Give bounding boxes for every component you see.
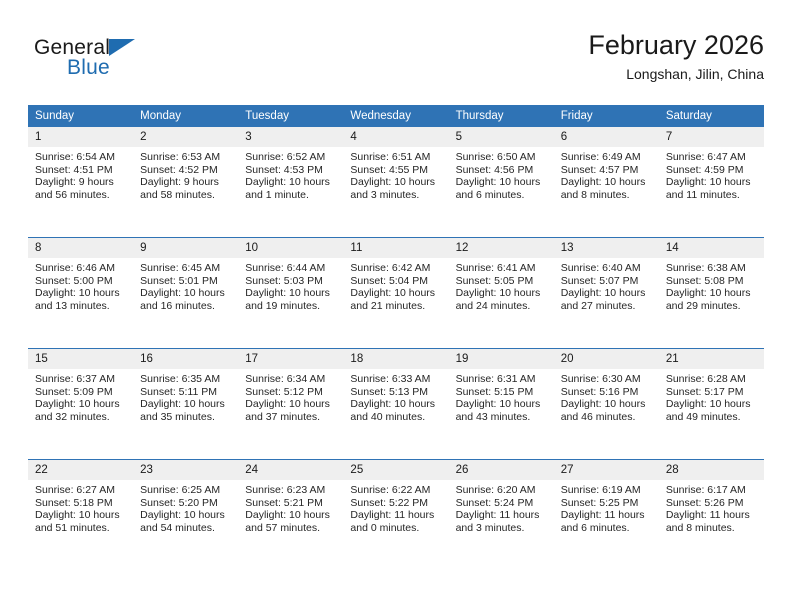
day-details: Sunrise: 6:38 AM Sunset: 5:08 PM Dayligh… bbox=[659, 258, 764, 312]
calendar-day-cell[interactable]: 20 Sunrise: 6:30 AM Sunset: 5:16 PM Dayl… bbox=[554, 349, 659, 460]
calendar-day-cell[interactable]: 15 Sunrise: 6:37 AM Sunset: 5:09 PM Dayl… bbox=[28, 349, 133, 460]
daylight-text: Daylight: 10 hours and 29 minutes. bbox=[666, 287, 758, 312]
daylight-text: Daylight: 10 hours and 27 minutes. bbox=[561, 287, 653, 312]
sunset-text: Sunset: 5:13 PM bbox=[350, 386, 442, 399]
day-number: 21 bbox=[659, 349, 764, 369]
calendar-header-row: Sunday Monday Tuesday Wednesday Thursday… bbox=[28, 105, 764, 127]
calendar-week-row: 15 Sunrise: 6:37 AM Sunset: 5:09 PM Dayl… bbox=[28, 349, 764, 460]
day-details: Sunrise: 6:53 AM Sunset: 4:52 PM Dayligh… bbox=[133, 147, 238, 201]
day-number: 1 bbox=[28, 127, 133, 147]
daylight-text: Daylight: 10 hours and 24 minutes. bbox=[456, 287, 548, 312]
sunrise-text: Sunrise: 6:53 AM bbox=[140, 151, 232, 164]
day-details: Sunrise: 6:17 AM Sunset: 5:26 PM Dayligh… bbox=[659, 480, 764, 534]
calendar-day-cell[interactable]: 27 Sunrise: 6:19 AM Sunset: 5:25 PM Dayl… bbox=[554, 460, 659, 571]
day-number: 4 bbox=[343, 127, 448, 147]
daylight-text: Daylight: 10 hours and 37 minutes. bbox=[245, 398, 337, 423]
day-number: 11 bbox=[343, 238, 448, 258]
sunset-text: Sunset: 5:18 PM bbox=[35, 497, 127, 510]
day-details: Sunrise: 6:52 AM Sunset: 4:53 PM Dayligh… bbox=[238, 147, 343, 201]
calendar-day-cell[interactable]: 10 Sunrise: 6:44 AM Sunset: 5:03 PM Dayl… bbox=[238, 238, 343, 349]
weekday-header-friday: Friday bbox=[554, 105, 659, 127]
day-details: Sunrise: 6:19 AM Sunset: 5:25 PM Dayligh… bbox=[554, 480, 659, 534]
sunrise-text: Sunrise: 6:20 AM bbox=[456, 484, 548, 497]
day-number: 27 bbox=[554, 460, 659, 480]
daylight-text: Daylight: 10 hours and 32 minutes. bbox=[35, 398, 127, 423]
daylight-text: Daylight: 9 hours and 58 minutes. bbox=[140, 176, 232, 201]
sunset-text: Sunset: 5:20 PM bbox=[140, 497, 232, 510]
day-details: Sunrise: 6:22 AM Sunset: 5:22 PM Dayligh… bbox=[343, 480, 448, 534]
sunrise-text: Sunrise: 6:54 AM bbox=[35, 151, 127, 164]
day-details: Sunrise: 6:40 AM Sunset: 5:07 PM Dayligh… bbox=[554, 258, 659, 312]
sunset-text: Sunset: 4:53 PM bbox=[245, 164, 337, 177]
daylight-text: Daylight: 11 hours and 3 minutes. bbox=[456, 509, 548, 534]
daylight-text: Daylight: 10 hours and 1 minute. bbox=[245, 176, 337, 201]
day-number: 14 bbox=[659, 238, 764, 258]
sunset-text: Sunset: 5:16 PM bbox=[561, 386, 653, 399]
sunrise-text: Sunrise: 6:45 AM bbox=[140, 262, 232, 275]
sunrise-text: Sunrise: 6:31 AM bbox=[456, 373, 548, 386]
sunrise-text: Sunrise: 6:42 AM bbox=[350, 262, 442, 275]
day-details: Sunrise: 6:25 AM Sunset: 5:20 PM Dayligh… bbox=[133, 480, 238, 534]
daylight-text: Daylight: 10 hours and 6 minutes. bbox=[456, 176, 548, 201]
weekday-header-tuesday: Tuesday bbox=[238, 105, 343, 127]
day-number: 10 bbox=[238, 238, 343, 258]
day-number: 18 bbox=[343, 349, 448, 369]
day-details: Sunrise: 6:42 AM Sunset: 5:04 PM Dayligh… bbox=[343, 258, 448, 312]
day-number: 28 bbox=[659, 460, 764, 480]
location-subtitle: Longshan, Jilin, China bbox=[588, 64, 764, 84]
daylight-text: Daylight: 10 hours and 54 minutes. bbox=[140, 509, 232, 534]
daylight-text: Daylight: 10 hours and 35 minutes. bbox=[140, 398, 232, 423]
calendar-week-row: 1 Sunrise: 6:54 AM Sunset: 4:51 PM Dayli… bbox=[28, 127, 764, 238]
calendar-day-cell[interactable]: 16 Sunrise: 6:35 AM Sunset: 5:11 PM Dayl… bbox=[133, 349, 238, 460]
day-number: 9 bbox=[133, 238, 238, 258]
calendar-day-cell[interactable]: 22 Sunrise: 6:27 AM Sunset: 5:18 PM Dayl… bbox=[28, 460, 133, 571]
sunrise-text: Sunrise: 6:50 AM bbox=[456, 151, 548, 164]
brand-name-blue: Blue bbox=[67, 56, 110, 80]
sunset-text: Sunset: 5:21 PM bbox=[245, 497, 337, 510]
sunset-text: Sunset: 5:17 PM bbox=[666, 386, 758, 399]
day-details: Sunrise: 6:30 AM Sunset: 5:16 PM Dayligh… bbox=[554, 369, 659, 423]
sunset-text: Sunset: 4:56 PM bbox=[456, 164, 548, 177]
day-details: Sunrise: 6:31 AM Sunset: 5:15 PM Dayligh… bbox=[449, 369, 554, 423]
sunrise-text: Sunrise: 6:41 AM bbox=[456, 262, 548, 275]
day-number: 2 bbox=[133, 127, 238, 147]
sunrise-text: Sunrise: 6:47 AM bbox=[666, 151, 758, 164]
day-number: 17 bbox=[238, 349, 343, 369]
day-number: 3 bbox=[238, 127, 343, 147]
general-blue-logo: General Blue bbox=[34, 36, 234, 88]
calendar-day-cell[interactable]: 21 Sunrise: 6:28 AM Sunset: 5:17 PM Dayl… bbox=[659, 349, 764, 460]
sunset-text: Sunset: 5:01 PM bbox=[140, 275, 232, 288]
day-details: Sunrise: 6:27 AM Sunset: 5:18 PM Dayligh… bbox=[28, 480, 133, 534]
sunset-text: Sunset: 5:04 PM bbox=[350, 275, 442, 288]
sunset-text: Sunset: 5:15 PM bbox=[456, 386, 548, 399]
calendar-day-cell[interactable]: 4 Sunrise: 6:51 AM Sunset: 4:55 PM Dayli… bbox=[343, 127, 448, 238]
calendar-day-cell[interactable]: 6 Sunrise: 6:49 AM Sunset: 4:57 PM Dayli… bbox=[554, 127, 659, 238]
daylight-text: Daylight: 11 hours and 6 minutes. bbox=[561, 509, 653, 534]
calendar-week-row: 8 Sunrise: 6:46 AM Sunset: 5:00 PM Dayli… bbox=[28, 238, 764, 349]
sunrise-text: Sunrise: 6:35 AM bbox=[140, 373, 232, 386]
sunrise-text: Sunrise: 6:38 AM bbox=[666, 262, 758, 275]
day-number: 7 bbox=[659, 127, 764, 147]
calendar-day-cell[interactable]: 3 Sunrise: 6:52 AM Sunset: 4:53 PM Dayli… bbox=[238, 127, 343, 238]
daylight-text: Daylight: 11 hours and 8 minutes. bbox=[666, 509, 758, 534]
calendar-day-cell[interactable]: 5 Sunrise: 6:50 AM Sunset: 4:56 PM Dayli… bbox=[449, 127, 554, 238]
sunrise-sunset-calendar: Sunday Monday Tuesday Wednesday Thursday… bbox=[28, 105, 764, 570]
calendar-day-cell[interactable]: 18 Sunrise: 6:33 AM Sunset: 5:13 PM Dayl… bbox=[343, 349, 448, 460]
page-title: February 2026 bbox=[588, 28, 764, 62]
day-number: 22 bbox=[28, 460, 133, 480]
day-details: Sunrise: 6:49 AM Sunset: 4:57 PM Dayligh… bbox=[554, 147, 659, 201]
sunrise-text: Sunrise: 6:40 AM bbox=[561, 262, 653, 275]
day-number: 8 bbox=[28, 238, 133, 258]
calendar-day-cell[interactable]: 25 Sunrise: 6:22 AM Sunset: 5:22 PM Dayl… bbox=[343, 460, 448, 571]
day-number: 24 bbox=[238, 460, 343, 480]
title-block: February 2026 Longshan, Jilin, China bbox=[588, 28, 764, 84]
sunset-text: Sunset: 4:51 PM bbox=[35, 164, 127, 177]
day-number: 20 bbox=[554, 349, 659, 369]
weekday-header-wednesday: Wednesday bbox=[343, 105, 448, 127]
sunrise-text: Sunrise: 6:37 AM bbox=[35, 373, 127, 386]
sunset-text: Sunset: 5:25 PM bbox=[561, 497, 653, 510]
day-details: Sunrise: 6:51 AM Sunset: 4:55 PM Dayligh… bbox=[343, 147, 448, 201]
calendar-day-cell[interactable]: 13 Sunrise: 6:40 AM Sunset: 5:07 PM Dayl… bbox=[554, 238, 659, 349]
sunrise-text: Sunrise: 6:51 AM bbox=[350, 151, 442, 164]
calendar-day-cell[interactable]: 28 Sunrise: 6:17 AM Sunset: 5:26 PM Dayl… bbox=[659, 460, 764, 571]
sunrise-text: Sunrise: 6:46 AM bbox=[35, 262, 127, 275]
day-number: 13 bbox=[554, 238, 659, 258]
day-details: Sunrise: 6:34 AM Sunset: 5:12 PM Dayligh… bbox=[238, 369, 343, 423]
day-details: Sunrise: 6:50 AM Sunset: 4:56 PM Dayligh… bbox=[449, 147, 554, 201]
sunset-text: Sunset: 5:09 PM bbox=[35, 386, 127, 399]
daylight-text: Daylight: 10 hours and 11 minutes. bbox=[666, 176, 758, 201]
sunrise-text: Sunrise: 6:27 AM bbox=[35, 484, 127, 497]
day-number: 6 bbox=[554, 127, 659, 147]
sunrise-text: Sunrise: 6:30 AM bbox=[561, 373, 653, 386]
weekday-header-saturday: Saturday bbox=[659, 105, 764, 127]
sunset-text: Sunset: 4:59 PM bbox=[666, 164, 758, 177]
sunset-text: Sunset: 5:00 PM bbox=[35, 275, 127, 288]
day-details: Sunrise: 6:28 AM Sunset: 5:17 PM Dayligh… bbox=[659, 369, 764, 423]
daylight-text: Daylight: 10 hours and 19 minutes. bbox=[245, 287, 337, 312]
calendar-day-cell[interactable]: 23 Sunrise: 6:25 AM Sunset: 5:20 PM Dayl… bbox=[133, 460, 238, 571]
sunset-text: Sunset: 4:57 PM bbox=[561, 164, 653, 177]
daylight-text: Daylight: 10 hours and 49 minutes. bbox=[666, 398, 758, 423]
sunrise-text: Sunrise: 6:17 AM bbox=[666, 484, 758, 497]
day-details: Sunrise: 6:41 AM Sunset: 5:05 PM Dayligh… bbox=[449, 258, 554, 312]
day-number: 5 bbox=[449, 127, 554, 147]
sunset-text: Sunset: 5:07 PM bbox=[561, 275, 653, 288]
daylight-text: Daylight: 10 hours and 40 minutes. bbox=[350, 398, 442, 423]
sunset-text: Sunset: 5:26 PM bbox=[666, 497, 758, 510]
calendar-day-cell[interactable]: 24 Sunrise: 6:23 AM Sunset: 5:21 PM Dayl… bbox=[238, 460, 343, 571]
day-number: 25 bbox=[343, 460, 448, 480]
day-details: Sunrise: 6:23 AM Sunset: 5:21 PM Dayligh… bbox=[238, 480, 343, 534]
weekday-header-sunday: Sunday bbox=[28, 105, 133, 127]
daylight-text: Daylight: 10 hours and 3 minutes. bbox=[350, 176, 442, 201]
daylight-text: Daylight: 10 hours and 51 minutes. bbox=[35, 509, 127, 534]
day-details: Sunrise: 6:37 AM Sunset: 5:09 PM Dayligh… bbox=[28, 369, 133, 423]
calendar-day-cell[interactable]: 1 Sunrise: 6:54 AM Sunset: 4:51 PM Dayli… bbox=[28, 127, 133, 238]
day-details: Sunrise: 6:54 AM Sunset: 4:51 PM Dayligh… bbox=[28, 147, 133, 201]
day-details: Sunrise: 6:46 AM Sunset: 5:00 PM Dayligh… bbox=[28, 258, 133, 312]
sunrise-text: Sunrise: 6:34 AM bbox=[245, 373, 337, 386]
daylight-text: Daylight: 10 hours and 8 minutes. bbox=[561, 176, 653, 201]
weekday-header-thursday: Thursday bbox=[449, 105, 554, 127]
sunrise-text: Sunrise: 6:52 AM bbox=[245, 151, 337, 164]
day-details: Sunrise: 6:35 AM Sunset: 5:11 PM Dayligh… bbox=[133, 369, 238, 423]
sunrise-text: Sunrise: 6:22 AM bbox=[350, 484, 442, 497]
sunset-text: Sunset: 5:03 PM bbox=[245, 275, 337, 288]
sunrise-text: Sunrise: 6:23 AM bbox=[245, 484, 337, 497]
sunset-text: Sunset: 5:22 PM bbox=[350, 497, 442, 510]
calendar-day-cell[interactable]: 17 Sunrise: 6:34 AM Sunset: 5:12 PM Dayl… bbox=[238, 349, 343, 460]
day-number: 19 bbox=[449, 349, 554, 369]
sunrise-text: Sunrise: 6:25 AM bbox=[140, 484, 232, 497]
daylight-text: Daylight: 10 hours and 16 minutes. bbox=[140, 287, 232, 312]
day-number: 15 bbox=[28, 349, 133, 369]
daylight-text: Daylight: 11 hours and 0 minutes. bbox=[350, 509, 442, 534]
page-header: General Blue February 2026 Longshan, Jil… bbox=[28, 28, 764, 96]
day-number: 23 bbox=[133, 460, 238, 480]
calendar-day-cell[interactable]: 19 Sunrise: 6:31 AM Sunset: 5:15 PM Dayl… bbox=[449, 349, 554, 460]
calendar-day-cell[interactable]: 2 Sunrise: 6:53 AM Sunset: 4:52 PM Dayli… bbox=[133, 127, 238, 238]
calendar-day-cell[interactable]: 26 Sunrise: 6:20 AM Sunset: 5:24 PM Dayl… bbox=[449, 460, 554, 571]
sunrise-text: Sunrise: 6:28 AM bbox=[666, 373, 758, 386]
triangle-icon bbox=[109, 39, 135, 56]
calendar-page: General Blue February 2026 Longshan, Jil… bbox=[0, 0, 792, 612]
daylight-text: Daylight: 10 hours and 46 minutes. bbox=[561, 398, 653, 423]
calendar-day-cell[interactable]: 11 Sunrise: 6:42 AM Sunset: 5:04 PM Dayl… bbox=[343, 238, 448, 349]
daylight-text: Daylight: 10 hours and 57 minutes. bbox=[245, 509, 337, 534]
day-details: Sunrise: 6:20 AM Sunset: 5:24 PM Dayligh… bbox=[449, 480, 554, 534]
daylight-text: Daylight: 10 hours and 13 minutes. bbox=[35, 287, 127, 312]
calendar-week-row: 22 Sunrise: 6:27 AM Sunset: 5:18 PM Dayl… bbox=[28, 460, 764, 571]
sunrise-text: Sunrise: 6:49 AM bbox=[561, 151, 653, 164]
sunset-text: Sunset: 5:11 PM bbox=[140, 386, 232, 399]
daylight-text: Daylight: 10 hours and 21 minutes. bbox=[350, 287, 442, 312]
calendar-body: 1 Sunrise: 6:54 AM Sunset: 4:51 PM Dayli… bbox=[28, 127, 764, 570]
daylight-text: Daylight: 9 hours and 56 minutes. bbox=[35, 176, 127, 201]
day-details: Sunrise: 6:45 AM Sunset: 5:01 PM Dayligh… bbox=[133, 258, 238, 312]
sunset-text: Sunset: 5:05 PM bbox=[456, 275, 548, 288]
weekday-header-monday: Monday bbox=[133, 105, 238, 127]
calendar-day-cell[interactable]: 7 Sunrise: 6:47 AM Sunset: 4:59 PM Dayli… bbox=[659, 127, 764, 238]
calendar-day-cell[interactable]: 14 Sunrise: 6:38 AM Sunset: 5:08 PM Dayl… bbox=[659, 238, 764, 349]
sunrise-text: Sunrise: 6:33 AM bbox=[350, 373, 442, 386]
day-number: 26 bbox=[449, 460, 554, 480]
sunset-text: Sunset: 5:24 PM bbox=[456, 497, 548, 510]
sunrise-text: Sunrise: 6:19 AM bbox=[561, 484, 653, 497]
sunset-text: Sunset: 4:55 PM bbox=[350, 164, 442, 177]
sunset-text: Sunset: 4:52 PM bbox=[140, 164, 232, 177]
daylight-text: Daylight: 10 hours and 43 minutes. bbox=[456, 398, 548, 423]
calendar-day-cell[interactable]: 9 Sunrise: 6:45 AM Sunset: 5:01 PM Dayli… bbox=[133, 238, 238, 349]
day-number: 16 bbox=[133, 349, 238, 369]
day-details: Sunrise: 6:44 AM Sunset: 5:03 PM Dayligh… bbox=[238, 258, 343, 312]
sunset-text: Sunset: 5:08 PM bbox=[666, 275, 758, 288]
day-number: 12 bbox=[449, 238, 554, 258]
day-details: Sunrise: 6:33 AM Sunset: 5:13 PM Dayligh… bbox=[343, 369, 448, 423]
calendar-day-cell[interactable]: 12 Sunrise: 6:41 AM Sunset: 5:05 PM Dayl… bbox=[449, 238, 554, 349]
day-details: Sunrise: 6:47 AM Sunset: 4:59 PM Dayligh… bbox=[659, 147, 764, 201]
sunrise-text: Sunrise: 6:44 AM bbox=[245, 262, 337, 275]
sunset-text: Sunset: 5:12 PM bbox=[245, 386, 337, 399]
calendar-day-cell[interactable]: 8 Sunrise: 6:46 AM Sunset: 5:00 PM Dayli… bbox=[28, 238, 133, 349]
